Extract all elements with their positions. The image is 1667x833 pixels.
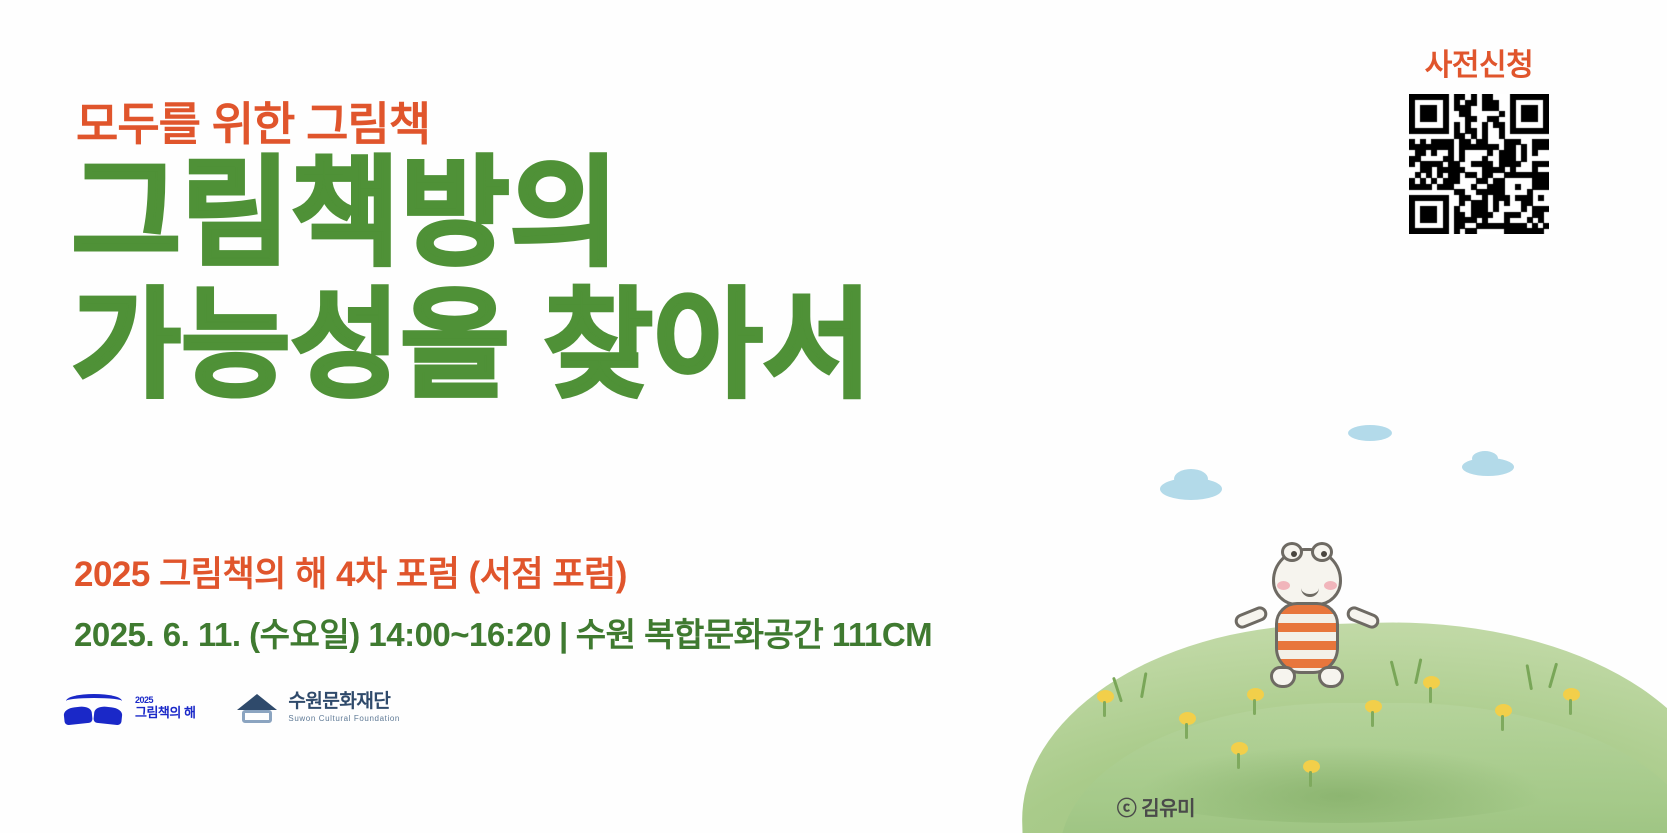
flower-icon (1492, 704, 1514, 722)
poster-title: 그림책방의 가능성을 찾아서 (72, 158, 873, 402)
flower-icon (1244, 688, 1266, 706)
grass-blade (1526, 664, 1533, 690)
frog-arm-left (1232, 604, 1269, 631)
grass-blade (1548, 663, 1558, 689)
suwon-logo-label-kr: 수원문화재단 (288, 692, 400, 713)
grass-blade (1112, 677, 1123, 703)
picturebook-year-logo-label: 그림책의 해 (135, 705, 195, 720)
open-book-icon (64, 688, 126, 728)
picturebook-year-logo: 2025 그림책의 해 (64, 688, 195, 728)
grass-blade (1140, 672, 1147, 698)
logo-row: 2025 그림책의 해 수원문화재단 Suwon Cultural Founda… (64, 688, 400, 728)
poster-title-line-1: 그림책방의 (72, 148, 620, 280)
frog-cheek-left (1277, 581, 1290, 590)
frog-character (1258, 548, 1356, 698)
qr-code-icon[interactable] (1409, 94, 1549, 234)
frog-eye-left (1281, 542, 1303, 562)
frog-leg-right (1318, 666, 1344, 688)
frog-head (1272, 548, 1342, 606)
event-poster: 모두를 위한 그림책 그림책방의 가능성을 찾아서 2025 그림책의 해 4차… (0, 0, 1667, 833)
flower-icon (1560, 688, 1582, 706)
suwon-logo-text: 수원문화재단 Suwon Cultural Foundation (288, 692, 400, 724)
cloud-icon (1462, 458, 1514, 476)
flower-icon (1176, 712, 1198, 730)
poster-subtitle: 2025 그림책의 해 4차 포럼 (서점 포럼) (74, 546, 627, 597)
frog-body-striped-shirt (1275, 602, 1339, 674)
flower-icon (1094, 690, 1116, 708)
frog-eye-right (1311, 542, 1333, 562)
grass-blade (1414, 658, 1422, 684)
flower-icon (1420, 676, 1442, 694)
suwon-cultural-foundation-logo: 수원문화재단 Suwon Cultural Foundation (235, 688, 400, 728)
pavilion-house-icon (235, 688, 279, 728)
illustration-credit: ⓒ 김유미 (1117, 792, 1195, 821)
poster-datetime-venue: 2025. 6. 11. (수요일) 14:00~16:20|수원 복합문화공간… (74, 608, 932, 656)
flower-icon (1362, 700, 1384, 718)
event-date-time: 2025. 6. 11. (수요일) 14:00~16:20 (74, 616, 551, 653)
poster-tagline: 모두를 위한 그림책 (76, 88, 430, 154)
frog-arm-right (1344, 604, 1381, 631)
frog-mouth (1301, 585, 1319, 597)
frog-cheek-right (1324, 581, 1337, 590)
flower-icon (1300, 760, 1322, 778)
suwon-logo-label-en: Suwon Cultural Foundation (288, 715, 400, 724)
frog-leg-left (1270, 666, 1296, 688)
cloud-icon (1348, 425, 1392, 441)
pre-registration-qr-block[interactable]: 사전신청 (1409, 40, 1549, 234)
poster-title-line-2: 가능성을 찾아서 (72, 290, 873, 402)
event-venue: 수원 복합문화공간 111CM (576, 616, 932, 653)
picturebook-year-logo-text: 2025 그림책의 해 (135, 695, 195, 720)
qr-label: 사전신청 (1409, 40, 1549, 84)
datetime-separator: | (551, 616, 576, 653)
cloud-icon (1160, 478, 1222, 500)
flower-icon (1228, 742, 1250, 760)
grass-blade (1390, 660, 1399, 686)
hill-back-shape (1017, 613, 1667, 833)
